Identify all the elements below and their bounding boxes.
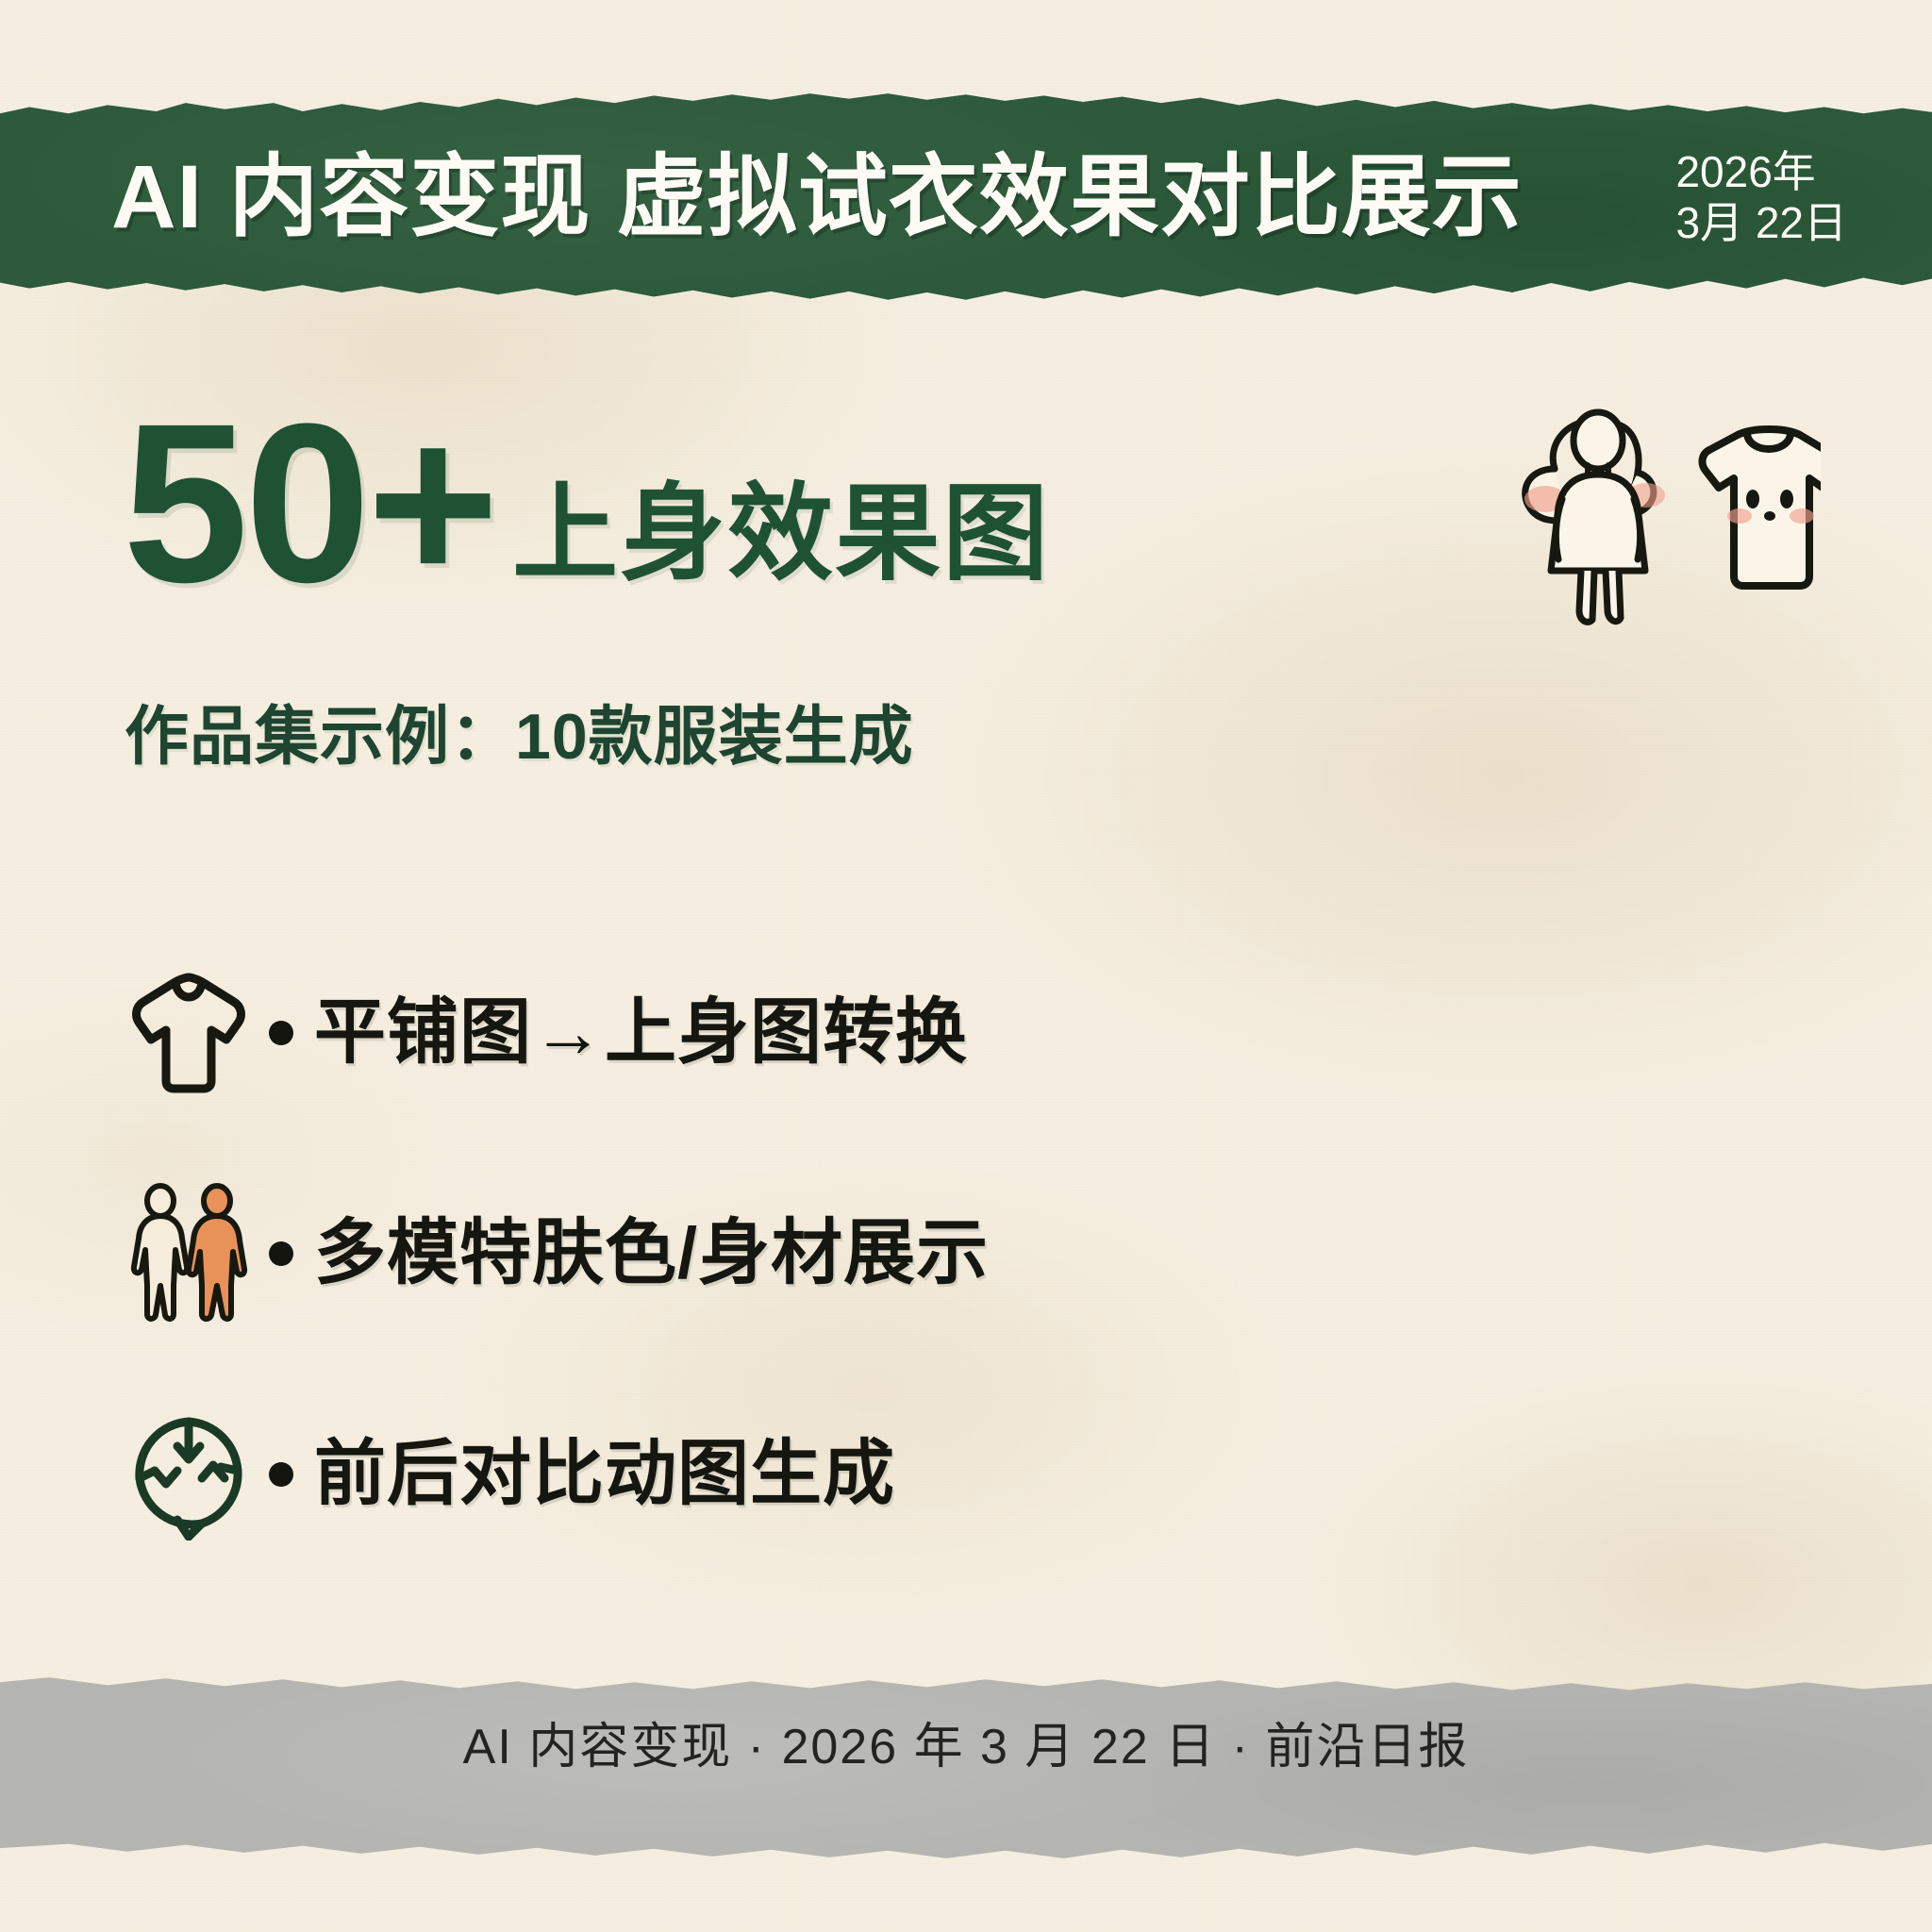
list-item-label: 平铺图→上身图转换 — [314, 993, 968, 1073]
woman-figure-icon — [1524, 412, 1665, 622]
feature-list: 平铺图→上身图转换 多模特肤色/身材展示 — [118, 962, 1533, 1545]
list-item-label: 前后对比动图生成 — [314, 1435, 895, 1514]
bullet-marker — [269, 1462, 293, 1487]
bullet-marker — [269, 1241, 293, 1266]
tshirt-outline-icon — [118, 962, 259, 1104]
header-date: 2026年 3月 22日 — [1638, 146, 1847, 249]
list-item: 平铺图→上身图转换 — [118, 962, 1533, 1104]
list-item-label: 多模特肤色/身材展示 — [314, 1214, 989, 1293]
footer-credit: AI 内容变现 · 2026 年 3 月 22 日 · 前沿日报 — [463, 1707, 1470, 1777]
list-item: 前后对比动图生成 — [118, 1404, 1533, 1545]
two-body-figures-icon — [118, 1183, 259, 1324]
bullet-marker — [269, 1021, 293, 1045]
header-date-day: 3月 22日 — [1675, 197, 1847, 248]
stat-label: 上身效果图 — [512, 481, 1050, 600]
cycle-arrows-icon — [118, 1404, 259, 1545]
poster-canvas: AI 内容变现 虚拟试衣效果对比展示 2026年 3月 22日 50+ 上身效果… — [0, 0, 1932, 1932]
stat-subtitle: 作品集示例：10款服装生成 — [125, 684, 914, 777]
tshirt-face-icon — [1703, 429, 1821, 586]
header-date-year: 2026年 — [1675, 146, 1847, 197]
hero-illustration — [1500, 382, 1821, 637]
header: AI 内容变现 虚拟试衣效果对比展示 2026年 3月 22日 — [0, 92, 1932, 302]
list-item: 多模特肤色/身材展示 — [118, 1183, 1533, 1324]
stat-number: 50+ — [123, 406, 495, 600]
footer: AI 内容变现 · 2026 年 3 月 22 日 · 前沿日报 — [0, 1670, 1932, 1862]
page-title: AI 内容变现 虚拟试衣效果对比展示 — [111, 153, 1638, 242]
headline-stat: 50+ 上身效果图 — [123, 406, 1050, 600]
